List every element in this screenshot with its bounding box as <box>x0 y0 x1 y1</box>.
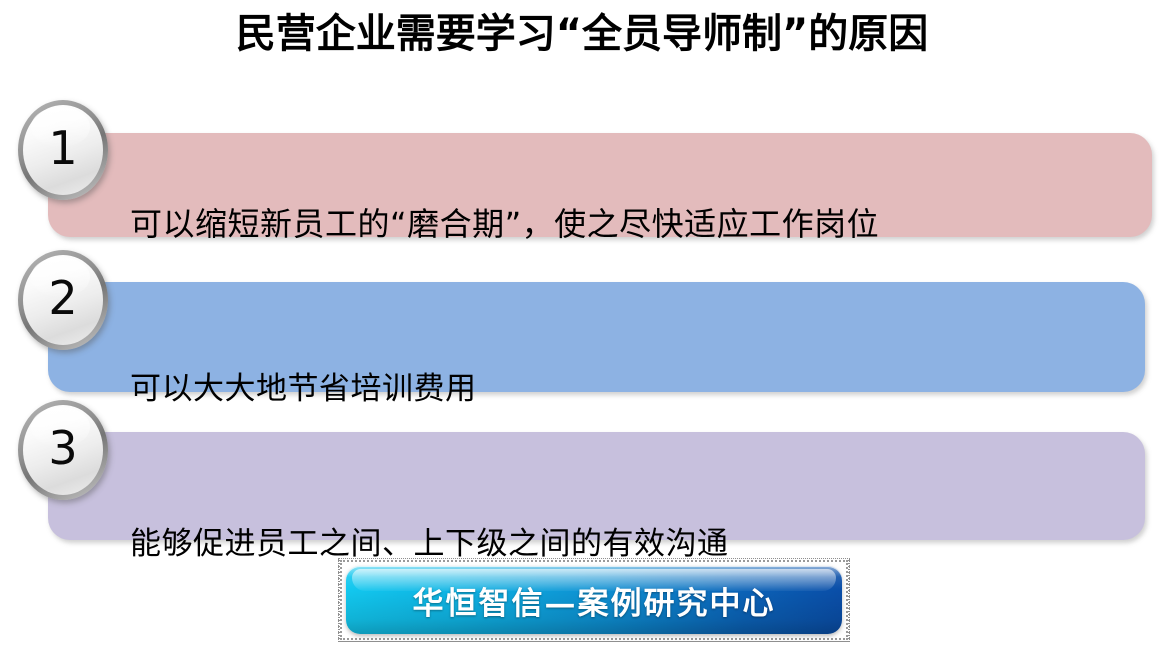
number-badge-2: 2 <box>18 250 108 350</box>
reason-text-1: 可以缩短新员工的“磨合期”，使之尽快适应工作岗位 <box>130 205 879 243</box>
reason-bar-3: 能够促进员工之间、上下级之间的有效沟通 <box>48 432 1145 540</box>
footer-banner-selection-frame[interactable]: 华恒智信—案例研究中心 <box>338 558 850 642</box>
reason-bar-2: 可以大大地节省培训费用 <box>48 282 1145 392</box>
number-badge-1: 1 <box>18 100 108 200</box>
reason-bar-1: 可以缩短新员工的“磨合期”，使之尽快适应工作岗位 <box>48 133 1152 237</box>
list-item: 能够促进员工之间、上下级之间的有效沟通 3 <box>0 395 1164 545</box>
footer-banner-label: 华恒智信—案例研究中心 <box>413 578 776 623</box>
page-title: 民营企业需要学习“全员导师制”的原因 <box>0 6 1164 62</box>
footer-banner[interactable]: 华恒智信—案例研究中心 <box>346 566 842 634</box>
list-item: 可以缩短新员工的“磨合期”，使之尽快适应工作岗位 1 <box>0 95 1164 245</box>
number-badge-3: 3 <box>18 400 108 500</box>
badge-number-1: 1 <box>18 100 108 200</box>
badge-number-3: 3 <box>18 400 108 500</box>
list-item: 可以大大地节省培训费用 2 <box>0 245 1164 395</box>
badge-number-2: 2 <box>18 250 108 350</box>
